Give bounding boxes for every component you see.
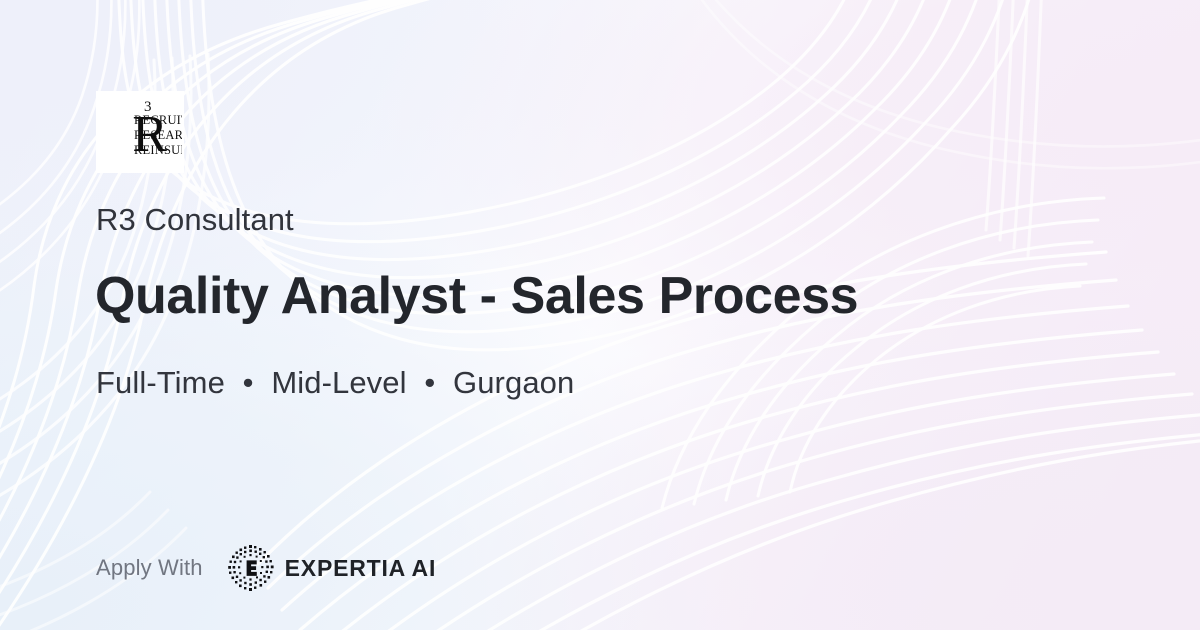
job-share-card: 3 Я RECRUIT RESEARCH REINSURE R3 Consult… — [0, 0, 1200, 630]
card-content: 3 Я RECRUIT RESEARCH REINSURE R3 Consult… — [0, 0, 1200, 630]
job-meta-line: Full-Time • Mid-Level • Gurgaon — [96, 361, 574, 405]
meta-separator-2: • — [415, 361, 444, 405]
meta-location: Gurgaon — [453, 365, 574, 400]
meta-seniority: Mid-Level — [271, 365, 406, 400]
meta-separator-1: • — [234, 361, 263, 405]
expertia-ai-dotted-circle-e-logo — [227, 544, 275, 592]
meta-employment-type: Full-Time — [96, 365, 225, 400]
apply-footer: Apply With — [96, 544, 436, 592]
company-logo-tile: 3 Я RECRUIT RESEARCH REINSURE — [96, 91, 184, 173]
logo-word-recruit: RECRUIT — [134, 113, 182, 127]
expertia-ai-brand[interactable]: EXPERTIA AI — [227, 544, 437, 592]
logo-word-reinsure: REINSURE — [134, 143, 182, 157]
company-name: R3 Consultant — [96, 200, 294, 240]
r3-recruit-research-reinsure-logo: 3 Я RECRUIT RESEARCH REINSURE — [98, 93, 182, 171]
expertia-ai-brand-name: EXPERTIA AI — [285, 553, 437, 583]
logo-word-research: RESEARCH — [134, 128, 182, 142]
job-title: Quality Analyst - Sales Process — [95, 263, 858, 329]
apply-with-label: Apply With — [96, 553, 203, 583]
